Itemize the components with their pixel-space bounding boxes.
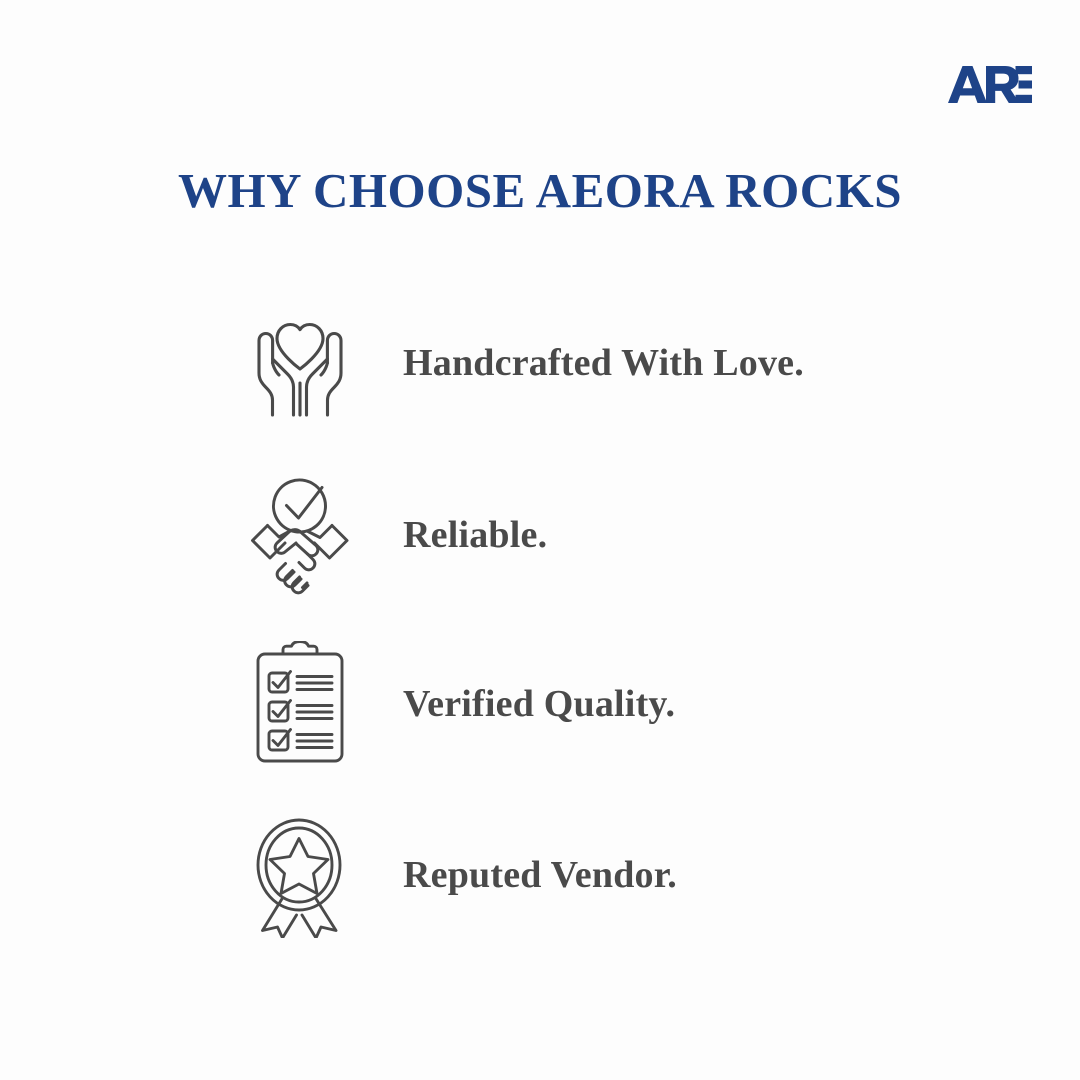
clipboard-checklist-icon [244, 639, 356, 769]
list-item-label: Reliable. [403, 516, 547, 554]
list-item: Verified Quality. [240, 619, 940, 789]
list-item: Handcrafted With Love. [240, 275, 940, 451]
feature-list: Handcrafted With Love. [240, 275, 940, 961]
page-title: WHY CHOOSE AEORA ROCKS [0, 166, 1080, 215]
list-item: Reliable. [240, 451, 940, 619]
list-item: Reputed Vendor. [240, 789, 940, 961]
promo-card: WHY CHOOSE AEORA ROCKS [0, 0, 1080, 1080]
are-wordmark-logo[interactable] [942, 62, 1032, 108]
list-item-label: Handcrafted With Love. [403, 344, 804, 382]
award-ribbon-star-icon [244, 810, 356, 940]
list-item-label: Reputed Vendor. [403, 856, 677, 894]
handshake-with-check-icon [244, 470, 356, 600]
hands-holding-heart-icon [244, 298, 356, 428]
list-item-label: Verified Quality. [403, 685, 675, 723]
